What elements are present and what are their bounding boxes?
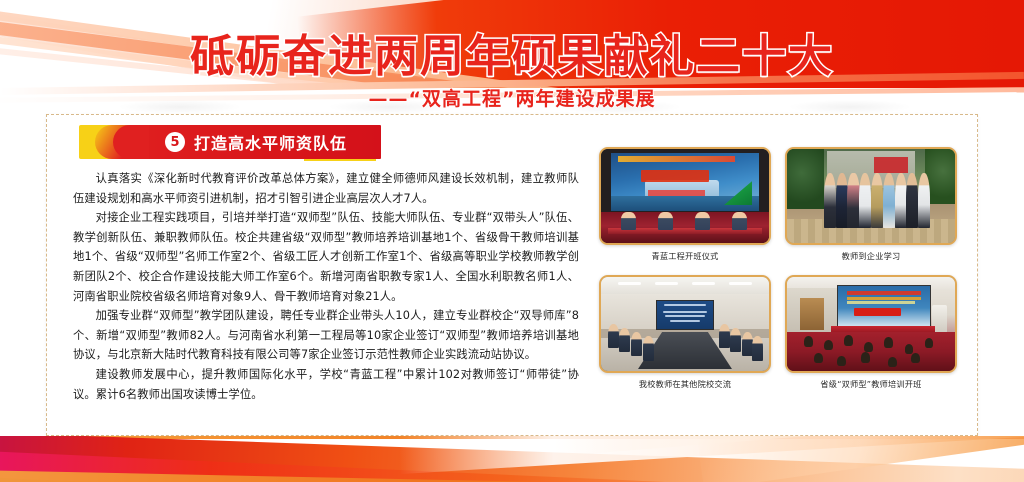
poster-page: 砥砺奋进两周年硕果献礼二十大 ——“双高工程”两年建设成果展 5 打造高水平师资… — [0, 0, 1024, 482]
photo-caption: 我校教师在其他院校交流 — [599, 378, 771, 390]
page-title: 砥砺奋进两周年硕果献礼二十大 — [0, 20, 1024, 84]
poster-banner: 砥砺奋进两周年硕果献礼二十大 ——“双高工程”两年建设成果展 — [0, 0, 1024, 118]
body-paragraph: 对接企业工程实践项目，引培并举打造“双师型”队伍、技能大师队伍、专业群“双带头人… — [73, 208, 579, 306]
photo-caption: 教师到企业学习 — [785, 250, 957, 262]
badge-red-band: 5 打造高水平师资队伍 — [113, 125, 381, 159]
section-heading-badge: 5 打造高水平师资队伍 — [79, 125, 369, 161]
body-paragraph: 加强专业群“双师型”教学团队建设，聘任专业群企业带头人10人，建立专业群校企“双… — [73, 306, 579, 365]
photo-cell: 省级“双师型”教师培训开班 — [785, 275, 957, 390]
photo-caption: 青蓝工程开班仪式 — [599, 250, 771, 262]
body-text-column: 认真落实《深化新时代教育评价改革总体方案》，建立健全师德师风建设长效机制，建立教… — [73, 169, 579, 419]
section-number: 5 — [165, 132, 185, 152]
page-subtitle: ——“双高工程”两年建设成果展 — [0, 84, 1024, 111]
photo-frame-ceremony[interactable] — [599, 147, 771, 245]
photo-frame-group[interactable] — [785, 147, 957, 245]
photo-cell: 教师到企业学习 — [785, 147, 957, 262]
section-title: 打造高水平师资队伍 — [194, 130, 347, 154]
photo-caption: 省级“双师型”教师培训开班 — [785, 378, 957, 390]
photo-cell: 青蓝工程开班仪式 — [599, 147, 771, 262]
content-card: 5 打造高水平师资队伍 认真落实《深化新时代教育评价改革总体方案》，建立健全师德… — [46, 114, 978, 436]
photo-cell: 我校教师在其他院校交流 — [599, 275, 771, 390]
poster-footer — [0, 436, 1024, 482]
body-paragraph: 认真落实《深化新时代教育评价改革总体方案》，建立健全师德师风建设长效机制，建立教… — [73, 169, 579, 208]
photo-frame-training[interactable] — [785, 275, 957, 373]
photo-grid: 青蓝工程开班仪式 — [599, 147, 957, 397]
photo-frame-meeting[interactable] — [599, 275, 771, 373]
body-paragraph: 建设教师发展中心，提升教师国际化水平，学校“青蓝工程”中累计102对教师签订“师… — [73, 365, 579, 404]
